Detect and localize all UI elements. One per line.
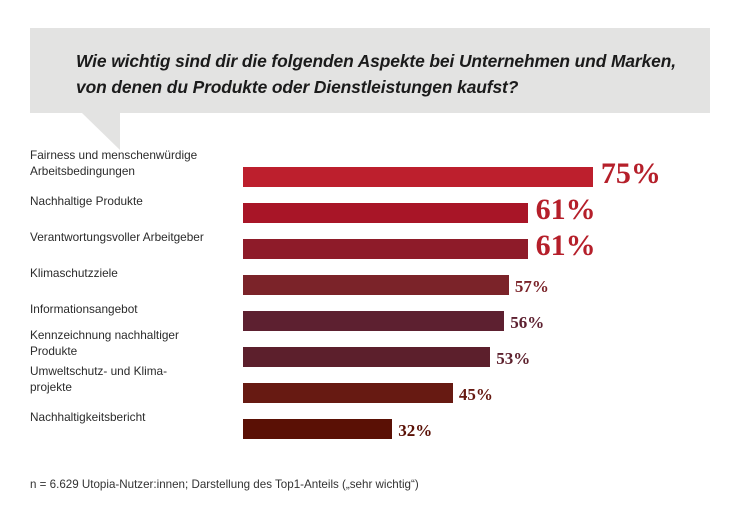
bar-row: Klimaschutzziele57% <box>0 258 748 294</box>
bar-category-label-line: Umweltschutz- und Klima- <box>30 364 235 380</box>
bar-chart: Fairness und menschenwürdigeArbeitsbedin… <box>0 150 748 450</box>
bar-track <box>243 419 392 439</box>
bar-fill[interactable] <box>243 203 528 223</box>
bar-category-label: Verantwortungsvoller Arbeitgeber <box>30 230 235 246</box>
bar-category-label-line: projekte <box>30 380 235 396</box>
bar-row: Kennzeichnung nachhaltigerProdukte53% <box>0 330 748 366</box>
bar-track <box>243 383 453 403</box>
bar-track <box>243 275 509 295</box>
bar-fill[interactable] <box>243 383 453 403</box>
chart-footnote: n = 6.629 Utopia-Nutzer:innen; Darstellu… <box>30 478 419 491</box>
bar-category-label: Nachhaltigkeitsbericht <box>30 410 235 426</box>
bar-track <box>243 311 504 331</box>
bar-category-label-line: Produkte <box>30 344 235 360</box>
bar-fill[interactable] <box>243 347 490 367</box>
bar-category-label-line: Nachhaltige Produkte <box>30 194 235 210</box>
bar-row: Verantwortungsvoller Arbeitgeber61% <box>0 222 748 258</box>
bar-row: Informationsangebot56% <box>0 294 748 330</box>
bar-value-label: 32% <box>398 421 432 441</box>
bar-category-label: Umweltschutz- und Klima-projekte <box>30 364 235 395</box>
bar-fill[interactable] <box>243 275 509 295</box>
bar-track <box>243 347 490 367</box>
bar-category-label-line: Fairness und menschenwürdige <box>30 148 235 164</box>
speech-bubble-tail-icon <box>82 113 120 150</box>
bar-category-label-line: Klimaschutzziele <box>30 266 235 282</box>
bar-row: Fairness und menschenwürdigeArbeitsbedin… <box>0 150 748 186</box>
bar-category-label-line: Informationsangebot <box>30 302 235 318</box>
bar-track <box>243 239 528 259</box>
bar-row: Umweltschutz- und Klima-projekte45% <box>0 366 748 402</box>
bar-fill[interactable] <box>243 419 392 439</box>
bar-category-label: Klimaschutzziele <box>30 266 235 282</box>
bar-row: Nachhaltigkeitsbericht32% <box>0 402 748 438</box>
bar-category-label: Nachhaltige Produkte <box>30 194 235 210</box>
bar-row: Nachhaltige Produkte61% <box>0 186 748 222</box>
bar-category-label: Informationsangebot <box>30 302 235 318</box>
bar-category-label: Kennzeichnung nachhaltigerProdukte <box>30 328 235 359</box>
bar-track <box>243 167 593 187</box>
bar-category-label-line: Nachhaltigkeitsbericht <box>30 410 235 426</box>
bar-category-label-line: Arbeitsbedingungen <box>30 164 235 180</box>
page-title: Wie wichtig sind dir die folgenden Aspek… <box>76 48 676 101</box>
bar-category-label: Fairness und menschenwürdigeArbeitsbedin… <box>30 148 235 179</box>
bar-category-label-line: Kennzeichnung nachhaltiger <box>30 328 235 344</box>
question-bubble: Wie wichtig sind dir die folgenden Aspek… <box>30 28 710 113</box>
bar-fill[interactable] <box>243 239 528 259</box>
bar-fill[interactable] <box>243 311 504 331</box>
bar-fill[interactable] <box>243 167 593 187</box>
bar-category-label-line: Verantwortungsvoller Arbeitgeber <box>30 230 235 246</box>
bar-track <box>243 203 528 223</box>
